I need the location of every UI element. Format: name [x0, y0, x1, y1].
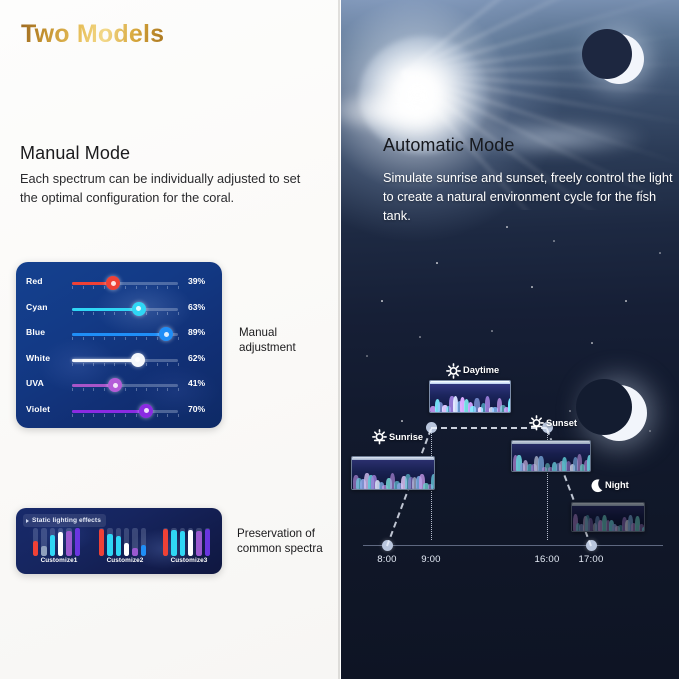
star — [625, 300, 627, 302]
slider-track[interactable] — [72, 308, 178, 311]
star — [553, 240, 555, 242]
automatic-mode-heading: Automatic Mode — [383, 135, 514, 156]
slider-row-cyan[interactable]: Cyan63% — [16, 298, 222, 322]
slider-fill — [72, 359, 138, 362]
timeline-axis — [363, 545, 663, 546]
slider-knob[interactable] — [131, 353, 145, 367]
slider-percent: 89% — [188, 327, 205, 337]
slider-label: Blue — [26, 327, 45, 337]
tank-water — [430, 384, 510, 412]
preset-3[interactable]: Customize3 — [158, 526, 220, 570]
preset-bar — [124, 543, 129, 556]
slider-knob[interactable] — [132, 302, 146, 316]
light-cycle-timeline: 8:009:0016:0017:00SunriseDaytimeSunsetNi… — [341, 360, 679, 570]
preset-bars — [33, 526, 85, 556]
slider-percent: 63% — [188, 302, 205, 312]
slider-row-uva[interactable]: UVA41% — [16, 374, 222, 398]
slider-ticks — [72, 286, 178, 290]
aquarium-preview-sunset — [511, 440, 591, 472]
preset-1[interactable]: Customize1 — [28, 526, 90, 570]
slider-ticks — [72, 414, 178, 418]
time-label: 16:00 — [522, 554, 572, 565]
slider-label: Violet — [26, 404, 50, 414]
coral-reef — [512, 452, 590, 471]
time-label: 9:00 — [406, 554, 456, 565]
preset-name: Customize1 — [28, 557, 90, 564]
preset-bar — [196, 531, 201, 556]
slider-percent: 62% — [188, 353, 205, 363]
preset-bar — [205, 529, 210, 556]
star — [506, 226, 508, 228]
star — [491, 330, 493, 332]
preset-bar — [107, 534, 112, 556]
preset-bar — [33, 541, 38, 556]
manual-mode-panel: Two Models Manual Mode Each spectrum can… — [0, 0, 340, 679]
preset-bar — [141, 545, 146, 556]
slider-label: Red — [26, 276, 43, 286]
static-lighting-effects-panel: Static lighting effects Customize1Custom… — [16, 508, 222, 574]
star — [531, 286, 533, 288]
aquarium-preview-daytime — [429, 380, 511, 413]
screenshot-root: Two Models Manual Mode Each spectrum can… — [0, 0, 679, 679]
slider-fill — [72, 308, 139, 311]
aquarium-preview-night — [571, 502, 645, 532]
coral-reef — [352, 468, 434, 489]
preset-bars — [99, 526, 151, 556]
effects-title: Static lighting effects — [32, 517, 101, 524]
preset-bar — [50, 535, 55, 556]
star — [366, 355, 368, 357]
preset-bar — [163, 529, 168, 556]
preset-bar — [171, 530, 176, 556]
slider-row-violet[interactable]: Violet70% — [16, 400, 222, 424]
slider-fill — [72, 410, 146, 413]
slider-ticks — [72, 388, 178, 392]
spectrum-slider-panel: Red39%Cyan63%Blue89%White62%UVA41%Violet… — [16, 262, 222, 428]
tank-water — [512, 444, 590, 471]
manual-mode-description: Each spectrum can be individually adjust… — [20, 170, 315, 207]
tank-water — [352, 460, 434, 489]
star — [381, 300, 383, 302]
stage-label-sunset: Sunset — [546, 418, 577, 428]
preset-bar — [66, 531, 71, 556]
time-label: 8:00 — [362, 554, 412, 565]
slider-track[interactable] — [72, 359, 178, 362]
slider-fill — [72, 333, 166, 336]
preset-bar — [132, 548, 137, 556]
preset-bar — [41, 546, 46, 556]
preset-name: Customize3 — [158, 557, 220, 564]
slider-track[interactable] — [72, 282, 178, 285]
stage-label-daytime: Daytime — [463, 365, 499, 375]
coral-reef — [572, 513, 644, 531]
tank-water — [572, 506, 644, 531]
automatic-mode-description: Simulate sunrise and sunset, freely cont… — [383, 168, 678, 225]
coral-reef — [430, 392, 510, 412]
crescent-moon-icon — [594, 34, 644, 84]
preset-bar — [116, 536, 121, 556]
half-sun-icon — [371, 429, 388, 446]
manual-adjustment-label: Manual adjustment — [239, 325, 334, 355]
star — [419, 336, 421, 338]
aquarium-preview-sunrise — [351, 456, 435, 490]
star — [659, 252, 661, 254]
full-sun-icon — [445, 363, 462, 380]
preset-bar — [58, 532, 63, 556]
preset-bar — [188, 530, 193, 556]
preset-bars — [163, 526, 215, 556]
slider-knob[interactable] — [139, 404, 153, 418]
stage-label-night: Night — [605, 480, 629, 490]
preset-bar — [75, 528, 80, 556]
slider-percent: 70% — [188, 404, 205, 414]
slider-label: Cyan — [26, 302, 48, 312]
preset-name: Customize2 — [94, 557, 156, 564]
manual-mode-heading: Manual Mode — [20, 143, 130, 164]
half-sun-icon — [528, 415, 545, 432]
preservation-label: Preservation of common spectra — [237, 526, 337, 556]
slider-row-red[interactable]: Red39% — [16, 272, 222, 296]
preset-2[interactable]: Customize2 — [94, 526, 156, 570]
slider-track[interactable] — [72, 384, 178, 387]
preset-bar — [180, 531, 185, 556]
chevron-right-icon — [26, 519, 29, 523]
slider-percent: 41% — [188, 378, 205, 388]
slider-ticks — [72, 363, 178, 367]
stage-label-sunrise: Sunrise — [389, 432, 423, 442]
slider-ticks — [72, 312, 178, 316]
slider-track[interactable] — [72, 410, 178, 413]
preset-bar — [99, 529, 104, 556]
star — [436, 262, 438, 264]
slider-percent: 39% — [188, 276, 205, 286]
automatic-mode-panel: Automatic Mode Simulate sunrise and suns… — [341, 0, 679, 679]
slider-row-white[interactable]: White62% — [16, 349, 222, 373]
page-title: Two Models — [21, 20, 164, 49]
slider-row-blue[interactable]: Blue89% — [16, 323, 222, 347]
time-label: 17:00 — [566, 554, 616, 565]
slider-label: UVA — [26, 378, 44, 388]
slider-label: White — [26, 353, 50, 363]
star — [591, 342, 593, 344]
crescent-moon-icon — [588, 477, 605, 494]
